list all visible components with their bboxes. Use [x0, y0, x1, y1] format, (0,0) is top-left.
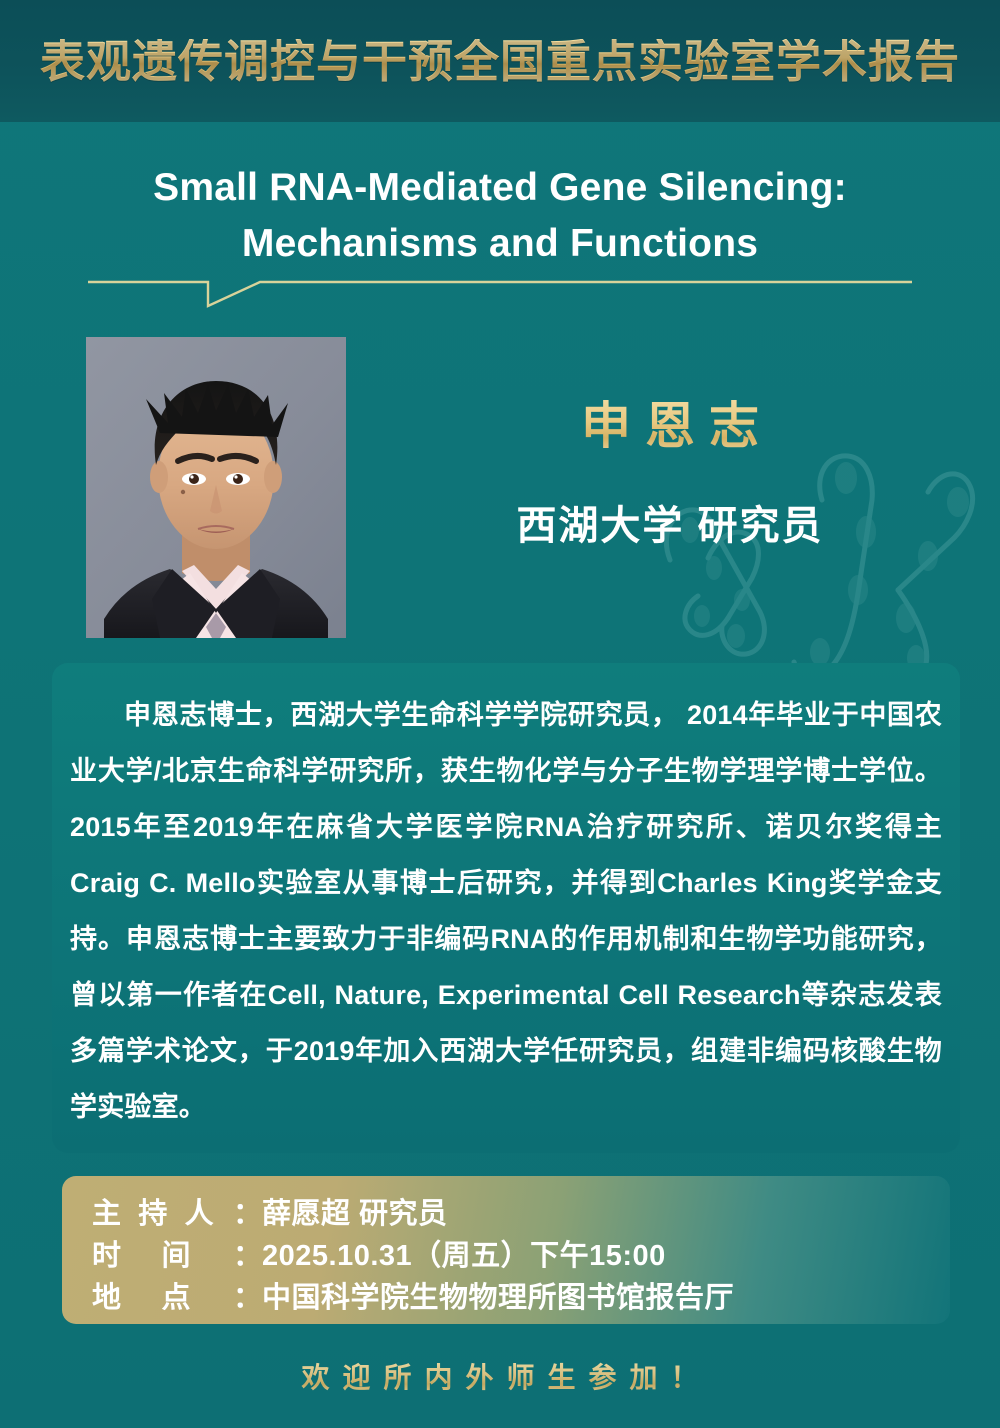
chromosome-watermark-icon — [610, 440, 990, 690]
notch-divider — [88, 276, 912, 312]
footer-welcome-text: 欢迎所内外师生参加！ — [0, 1356, 1000, 1396]
info-label-host: 主 持 人 ： — [92, 1190, 262, 1232]
header-banner: 表观遗传调控与干预全国重点实验室学术报告 — [0, 0, 1000, 122]
talk-title-line-1: Small RNA-Mediated Gene Silencing: — [0, 160, 1000, 216]
info-label-datetime: 时 间 ： — [92, 1232, 262, 1274]
talk-title-line-2: Mechanisms and Functions — [0, 216, 1000, 272]
seminar-poster: 表观遗传调控与干预全国重点实验室学术报告 Small RNA-Mediated … — [0, 0, 1000, 1428]
bio-panel: 申恩志博士，西湖大学生命科学学院研究员， 2014年毕业于中国农业大学/北京生命… — [52, 663, 960, 1153]
info-label-venue: 地 点 ： — [92, 1274, 262, 1316]
speaker-affiliation: 西湖大学 研究员 — [420, 502, 920, 550]
event-info-panel: 主 持 人 ： 薛愿超 研究员 时 间 ： 2025.10.31（周五）下午15… — [62, 1176, 950, 1324]
info-row-datetime: 时 间 ： 2025.10.31（周五）下午15:00 — [92, 1232, 950, 1274]
banner-title: 表观遗传调控与干预全国重点实验室学术报告 — [40, 39, 960, 84]
speaker-name: 申恩志 — [420, 396, 920, 456]
page-title: Small RNA-Mediated Gene Silencing: Mecha… — [0, 160, 1000, 272]
info-value-host: 薛愿超 研究员 — [262, 1190, 448, 1232]
info-row-venue: 地 点 ： 中国科学院生物物理所图书馆报告厅 — [92, 1274, 950, 1316]
bio-text: 申恩志博士，西湖大学生命科学学院研究员， 2014年毕业于中国农业大学/北京生命… — [70, 687, 942, 1135]
info-value-venue: 中国科学院生物物理所图书馆报告厅 — [262, 1274, 734, 1316]
speaker-photo — [86, 337, 346, 638]
info-value-datetime: 2025.10.31（周五）下午15:00 — [262, 1232, 666, 1274]
info-row-host: 主 持 人 ： 薛愿超 研究员 — [92, 1190, 950, 1232]
